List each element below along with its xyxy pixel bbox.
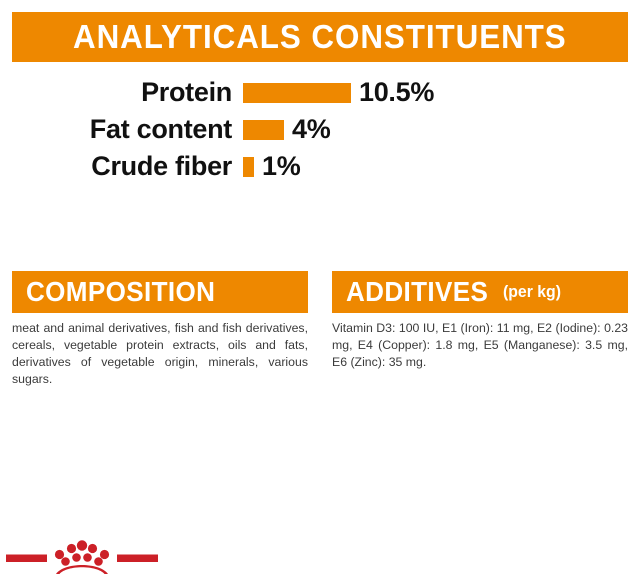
constituent-row-crude-fiber: Crude fiber 1% <box>0 148 640 185</box>
constituent-row-fat-content: Fat content 4% <box>0 111 640 148</box>
constituent-value: 1% <box>262 153 300 180</box>
additives-heading: ADDITIVES <box>346 276 488 308</box>
additives-heading-suffix: (per kg) <box>503 282 561 302</box>
constituent-value: 10.5% <box>359 79 434 106</box>
composition-body-text: meat and animal derivatives, fish and fi… <box>12 313 308 388</box>
crown-icon <box>6 534 158 576</box>
composition-panel: COMPOSITION meat and animal derivatives,… <box>12 271 308 388</box>
constituent-bar <box>243 83 351 103</box>
additives-panel: ADDITIVES (per kg) Vitamin D3: 100 IU, E… <box>332 271 628 371</box>
composition-header: COMPOSITION <box>12 271 308 313</box>
additives-header: ADDITIVES (per kg) <box>332 271 628 313</box>
constituent-row-protein: Protein 10.5% <box>0 74 640 111</box>
constituent-label: Crude fiber <box>0 153 232 180</box>
constituent-label: Protein <box>0 79 232 106</box>
royal-canin-crown-logo <box>6 534 158 576</box>
constituent-bar <box>243 120 284 140</box>
page-title: ANALYTICALS CONSTITUENTS <box>73 18 567 56</box>
constituent-value: 4% <box>292 116 330 143</box>
analyticals-constituents-banner: ANALYTICALS CONSTITUENTS <box>12 12 628 62</box>
constituent-bar <box>243 157 254 177</box>
composition-heading: COMPOSITION <box>26 276 215 308</box>
constituent-label: Fat content <box>0 116 232 143</box>
additives-body-text: Vitamin D3: 100 IU, E1 (Iron): 11 mg, E2… <box>332 313 628 371</box>
constituents-chart: Protein 10.5% Fat content 4% Crude fiber… <box>0 74 640 185</box>
